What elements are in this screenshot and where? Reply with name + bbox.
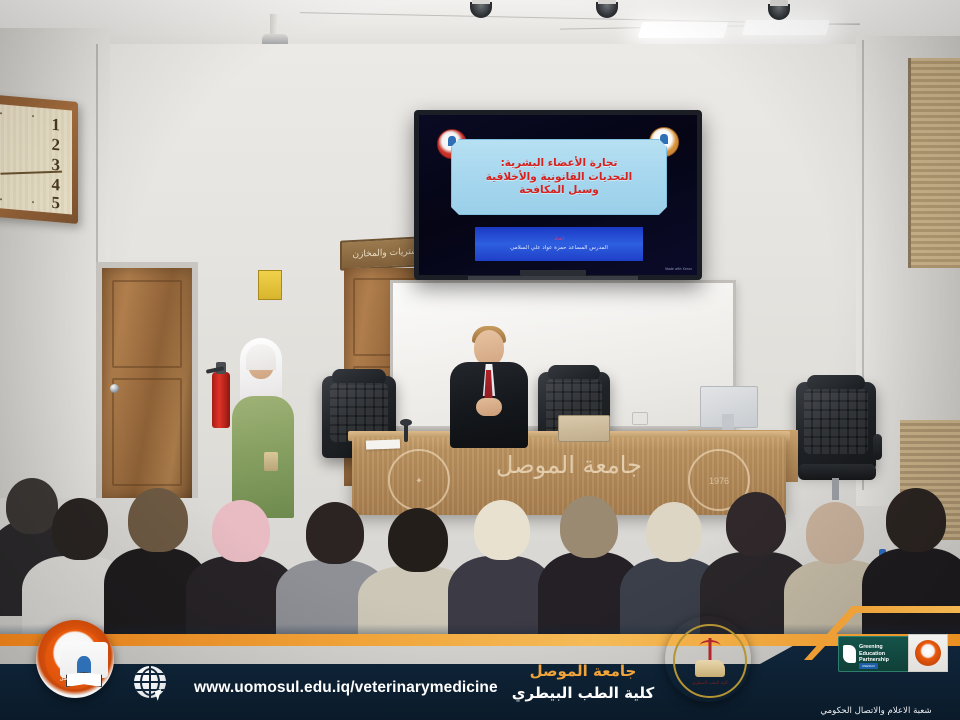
- footer-banner: جامعة الموصل www.uomosul.edu.iq/veterina…: [0, 602, 960, 720]
- audience-head: [306, 502, 364, 564]
- clock-number: 5: [52, 193, 61, 214]
- leaf-icon: [843, 645, 856, 663]
- door-panel: [112, 378, 182, 486]
- clock-face: 1 2 3 4 5: [0, 104, 72, 215]
- audience-head: [388, 508, 448, 572]
- audience-head: [128, 488, 188, 552]
- emblem-inner-ring: جامعة الموصل: [45, 629, 105, 689]
- desk-seal-left: ✦: [388, 449, 450, 511]
- emblem-text: كلية الطب البيطري: [675, 681, 745, 686]
- college-name-ar: كلية الطب البيطري: [498, 684, 668, 702]
- door-left[interactable]: [102, 268, 192, 498]
- laptop[interactable]: [558, 415, 610, 442]
- wall-clock: 1 2 3 4 5: [0, 94, 78, 224]
- door-panel: [112, 280, 182, 368]
- slide-title-line-3: وسبل المكافحة: [519, 184, 599, 197]
- slide-prepared-label: اعداد: [554, 237, 564, 242]
- slide-presenter-box: اعداد المدرس المساعد حمزة عواد علي السلا…: [475, 227, 643, 261]
- chair-armrest: [873, 434, 882, 460]
- fire-extinguisher-icon: [212, 372, 230, 428]
- presenter-head: [474, 330, 504, 366]
- slide-watermark: Made with Xerox: [665, 267, 692, 271]
- clock-number: 1: [52, 115, 61, 136]
- banner-accent-stripe: [0, 634, 960, 646]
- slide-presenter-name: المدرس المساعد حمزة عواد علي السلامي: [510, 245, 608, 251]
- papers-on-desk: [366, 439, 400, 449]
- audience-head: [6, 478, 58, 534]
- screenshot-root: 1 2 3 4 5 المشتريات والمخازن: [0, 0, 960, 720]
- wall-mounted-tv: تجارة الأعضاء البشرية: التحديات القانوني…: [414, 110, 702, 280]
- desk-microphone: [404, 424, 408, 442]
- minaret-icon: [77, 656, 91, 674]
- clock-number: 2: [52, 135, 61, 156]
- clock-marker: [0, 198, 2, 200]
- website-url[interactable]: www.uomosul.edu.iq/veterinarymedicine: [194, 679, 498, 697]
- office-chair[interactable]: [796, 382, 876, 470]
- desk-seal-year: 1976: [709, 476, 729, 486]
- window-blinds: [908, 58, 960, 268]
- clock-marker: [0, 112, 2, 114]
- emblem-inner-ring: كلية الطب البيطري: [673, 624, 747, 698]
- door-handle[interactable]: [110, 384, 119, 393]
- university-name-ar: جامعة الموصل: [498, 662, 668, 680]
- ceiling-light-panel: [742, 20, 830, 35]
- department-name-ar: شعبة الاعلام والاتصال الحكومي: [800, 706, 952, 716]
- slide-title-line-1: تجارة الأعضاء البشرية:: [501, 157, 618, 170]
- veterinary-college-emblem: كلية الطب البيطري: [665, 616, 751, 702]
- wall-socket: [632, 412, 648, 425]
- woman-phone: [264, 452, 278, 471]
- fire-safety-sign: [258, 270, 282, 300]
- audience-head: [886, 488, 946, 552]
- gep-line-2: Education: [859, 651, 909, 658]
- chair-post: [832, 478, 839, 500]
- slide-title-line-2: التحديات القانونية والأخلاقية: [486, 171, 632, 184]
- audience-head: [726, 492, 786, 556]
- emblem-text: جامعة الموصل: [45, 676, 105, 682]
- tv-shelf: [468, 276, 638, 280]
- gep-line-1: Greening: [859, 644, 909, 651]
- audience-head: [52, 498, 108, 560]
- university-of-mosul-emblem: جامعة الموصل: [36, 620, 114, 698]
- unesco-sponsor-label: UNESCO: [859, 663, 878, 669]
- caduceus-icon: [709, 638, 712, 660]
- audience-head-hijab: [212, 500, 270, 562]
- partnership-university-logo: [908, 634, 948, 672]
- clock-marker: [32, 115, 34, 117]
- emblem-center: [60, 642, 108, 678]
- animal-figure-icon: [695, 660, 725, 677]
- greening-education-partnership-badge: Greening Education Partnership UNESCO: [838, 636, 910, 672]
- presenter-hands: [476, 398, 502, 416]
- slide-title-box: تجارة الأعضاء البشرية: التحديات القانوني…: [451, 139, 667, 215]
- audience-head-hijab: [806, 502, 864, 564]
- woman-hijab-front: [246, 344, 276, 370]
- audience-head: [560, 496, 618, 558]
- chair-quilting: [804, 389, 868, 454]
- ceiling-light-panel: [638, 22, 729, 38]
- desk-seal-mark: ✦: [415, 476, 423, 487]
- presentation-slide: تجارة الأعضاء البشرية: التحديات القانوني…: [419, 115, 697, 275]
- audience-head-hijab: [474, 500, 530, 560]
- clock-marker: [32, 201, 34, 203]
- audience-head-hijab: [646, 502, 702, 562]
